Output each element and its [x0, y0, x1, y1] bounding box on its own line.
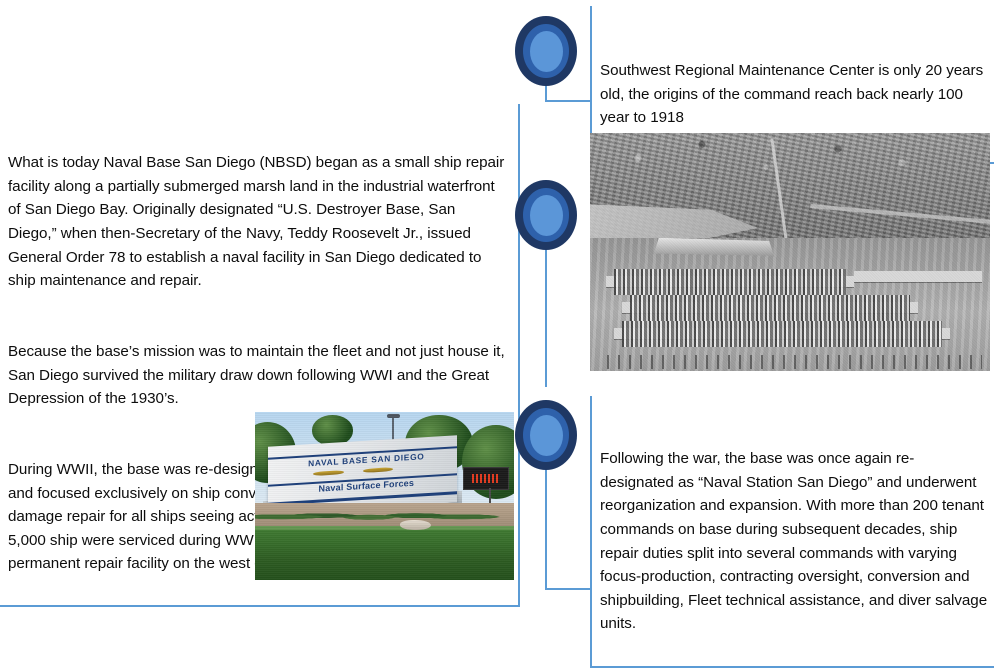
aerial-photo-pilings	[598, 355, 982, 369]
timeline-marker-3-mid-ring	[523, 408, 569, 462]
connector-line-marker-3	[545, 465, 547, 590]
naval-base-sign-photo: NAVAL BASE SAN DIEGO Naval Surface Force…	[255, 412, 514, 580]
connector-line-marker-3-horizontal	[545, 588, 592, 590]
bottom-right-paragraph: Following the war, the base was once aga…	[600, 447, 988, 636]
timeline-marker-2[interactable]	[515, 180, 577, 250]
timeline-marker-3[interactable]	[515, 400, 577, 470]
timeline-marker-1-mid-ring	[523, 24, 569, 78]
connector-line-marker-2	[545, 245, 547, 387]
sign-photo-grain	[255, 412, 514, 580]
aerial-naval-base-photo	[590, 133, 990, 371]
timeline-marker-1[interactable]	[515, 16, 577, 86]
timeline-marker-1-core	[530, 31, 563, 72]
top-right-paragraph: Southwest Regional Maintenance Center is…	[600, 59, 988, 130]
aerial-photo-pier	[854, 271, 982, 282]
timeline-marker-2-core	[530, 195, 563, 236]
timeline-marker-2-mid-ring	[523, 188, 569, 242]
aerial-photo-moored-ships	[614, 269, 846, 295]
bottom-right-text-block: Following the war, the base was once aga…	[590, 396, 994, 668]
aerial-photo-moored-ships	[630, 295, 910, 321]
left-paragraph-2: Because the base’s mission was to mainta…	[8, 340, 508, 411]
aerial-photo-moored-ships	[622, 321, 942, 347]
left-paragraph-1: What is today Naval Base San Diego (NBSD…	[8, 151, 508, 293]
connector-line-marker-1-horizontal	[545, 100, 592, 102]
timeline-marker-3-core	[530, 415, 563, 456]
